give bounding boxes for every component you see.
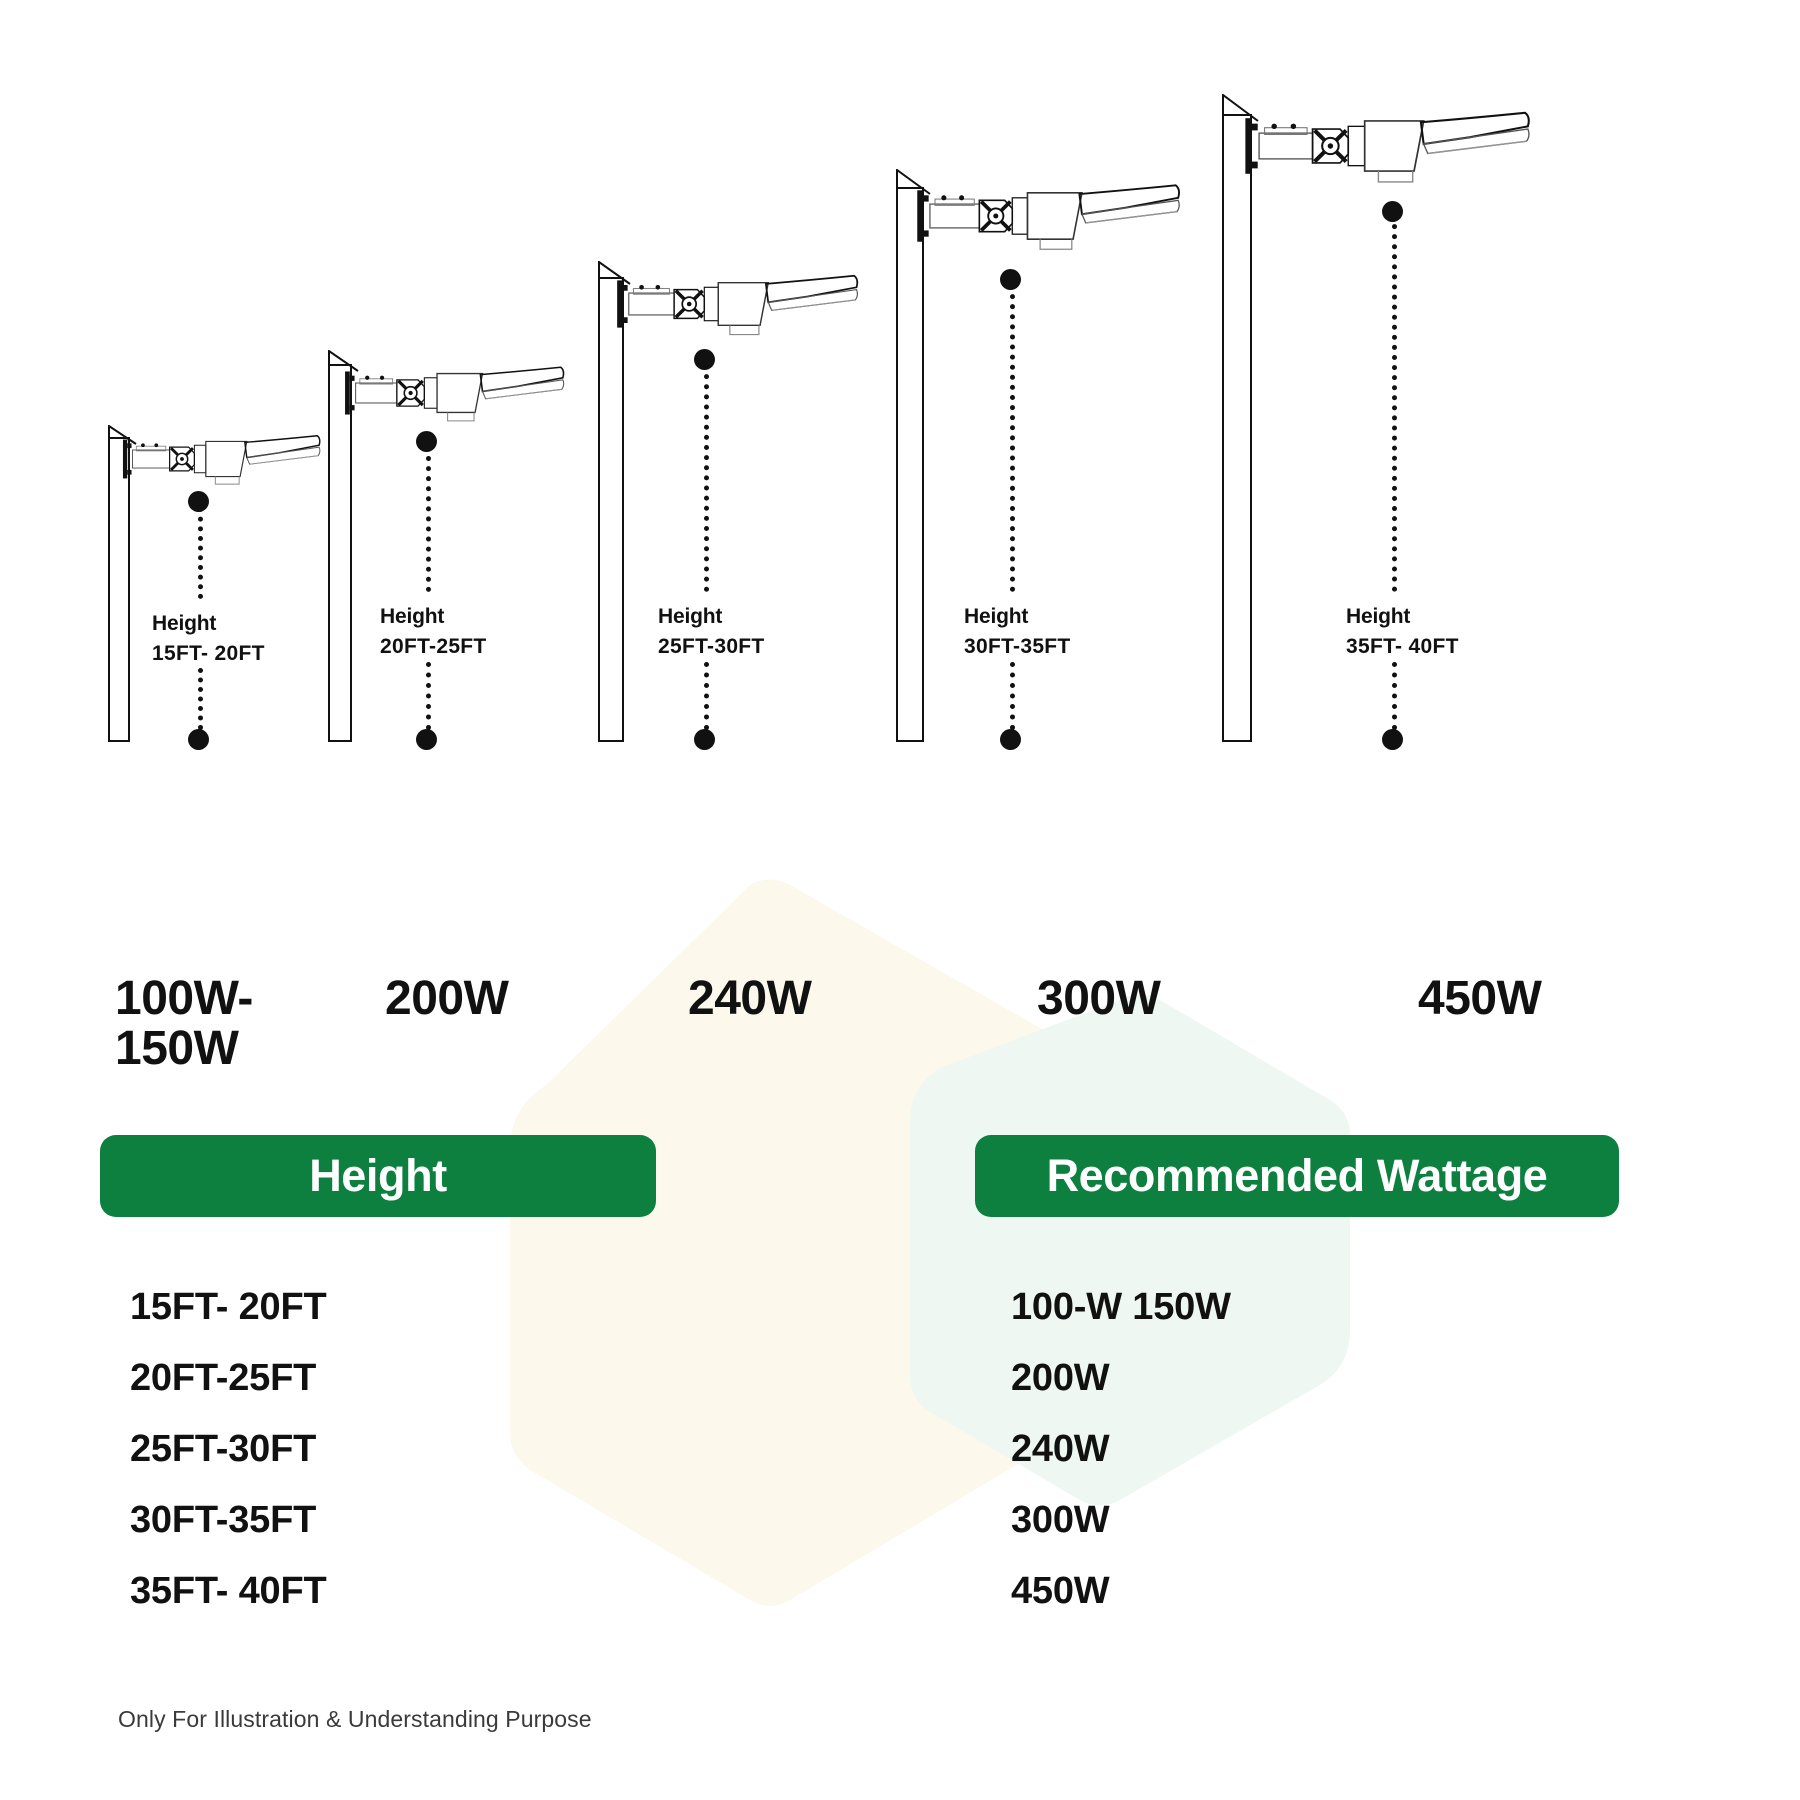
height-tag-value-1: 15FT- 20FT <box>152 639 265 669</box>
height-tag-value-5: 35FT- 40FT <box>1346 632 1459 662</box>
table-header-height: Height <box>100 1135 656 1217</box>
height-tag-caption-4: Height <box>964 602 1071 632</box>
height-tag-value-3: 25FT-30FT <box>658 632 765 662</box>
table-header-height-label: Height <box>309 1150 447 1202</box>
pole-unit-5: Height 35FT- 40FT <box>1222 92 1632 742</box>
measure-dot-bottom-1 <box>188 729 209 750</box>
measure-leader-lower-4 <box>1010 662 1015 730</box>
table-cell-wattage-1: 100-W 150W <box>1011 1286 1231 1329</box>
height-tag-5: Height 35FT- 40FT <box>1346 602 1459 662</box>
table-cell-wattage-2: 200W <box>1011 1357 1109 1400</box>
street-light-fixture-icon-1 <box>122 431 322 487</box>
pole-unit-4: Height 30FT-35FT <box>896 162 1276 742</box>
measure-leader-upper-4 <box>1010 284 1015 592</box>
height-tag-2: Height 20FT-25FT <box>380 602 487 662</box>
table-cell-height-3: 25FT-30FT <box>130 1428 316 1471</box>
measure-leader-upper-2 <box>426 446 431 592</box>
measure-leader-upper-5 <box>1392 214 1397 592</box>
measure-leader-upper-1 <box>198 507 203 599</box>
table-header-wattage-label: Recommended Wattage <box>1047 1150 1548 1202</box>
height-tag-caption-3: Height <box>658 602 765 632</box>
disclaimer-note: Only For Illustration & Understanding Pu… <box>118 1706 592 1733</box>
height-tag-caption-2: Height <box>380 602 487 632</box>
height-tag-value-2: 20FT-25FT <box>380 632 487 662</box>
height-tag-caption-5: Height <box>1346 602 1459 632</box>
wattage-headline-4: 300W <box>1037 974 1160 1024</box>
street-light-fixture-icon-5 <box>1244 106 1532 186</box>
height-tag-4: Height 30FT-35FT <box>964 602 1071 662</box>
table-cell-height-2: 20FT-25FT <box>130 1357 316 1400</box>
pole-illustration-group: Height 15FT- 20FT <box>0 0 1800 900</box>
measure-leader-lower-1 <box>198 668 203 730</box>
wattage-headline-1: 100W- 150W <box>115 974 290 1075</box>
table-cell-wattage-3: 240W <box>1011 1428 1109 1471</box>
height-tag-1: Height 15FT- 20FT <box>152 609 265 669</box>
measure-dot-bottom-5 <box>1382 729 1403 750</box>
wattage-headline-2: 200W <box>385 974 508 1024</box>
measure-dot-bottom-4 <box>1000 729 1021 750</box>
mint-hexagon-shape <box>910 995 1350 1506</box>
measure-leader-lower-3 <box>704 662 709 730</box>
table-cell-wattage-4: 300W <box>1011 1499 1109 1542</box>
measure-dot-bottom-3 <box>694 729 715 750</box>
street-light-fixture-icon-2 <box>344 362 566 424</box>
infographic-canvas: Height 15FT- 20FT <box>0 0 1800 1800</box>
height-tag-3: Height 25FT-30FT <box>658 602 765 662</box>
table-header-wattage: Recommended Wattage <box>975 1135 1619 1217</box>
table-cell-height-4: 30FT-35FT <box>130 1499 316 1542</box>
wattage-headline-5: 450W <box>1418 974 1541 1024</box>
measure-leader-lower-2 <box>426 662 431 730</box>
pole-shaft-5 <box>1222 114 1252 742</box>
table-cell-wattage-5: 450W <box>1011 1570 1109 1613</box>
street-light-fixture-icon-3 <box>616 270 860 338</box>
table-cell-height-5: 35FT- 40FT <box>130 1570 327 1613</box>
height-tag-value-4: 30FT-35FT <box>964 632 1071 662</box>
pole-shaft-3 <box>598 277 624 742</box>
measure-leader-lower-5 <box>1392 662 1397 730</box>
measure-leader-upper-3 <box>704 364 709 592</box>
measure-dot-bottom-2 <box>416 729 437 750</box>
street-light-fixture-icon-4 <box>916 179 1182 253</box>
table-cell-height-1: 15FT- 20FT <box>130 1286 327 1329</box>
wattage-headline-3: 240W <box>688 974 811 1024</box>
pole-shaft-4 <box>896 187 924 742</box>
height-tag-caption-1: Height <box>152 609 265 639</box>
